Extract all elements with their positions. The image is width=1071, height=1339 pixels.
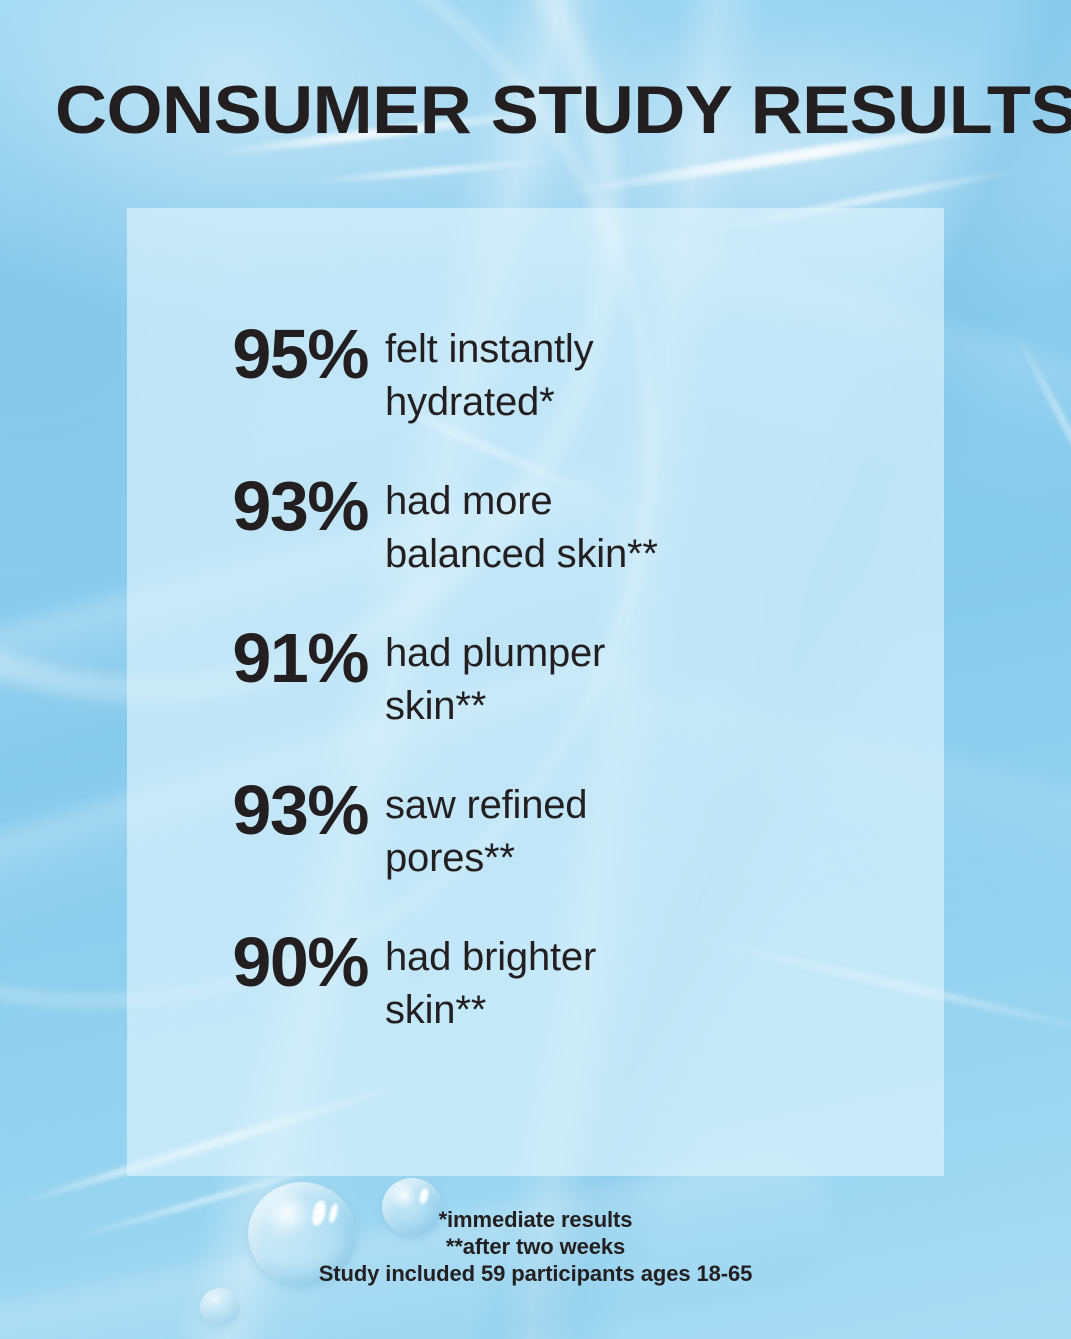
stat-label-line: had plumper xyxy=(385,627,755,680)
stat-label-line: pores** xyxy=(385,832,755,885)
footnote-study-participants: Study included 59 participants ages 18-6… xyxy=(0,1260,1071,1287)
stat-label: felt instantly hydrated* xyxy=(385,316,755,429)
stat-value: 93% xyxy=(127,772,385,848)
stat-label: saw refined pores** xyxy=(385,772,755,885)
stat-row: 95% felt instantly hydrated* xyxy=(127,316,944,429)
stat-label-line: skin** xyxy=(385,680,755,733)
stat-label-line: hydrated* xyxy=(385,376,755,429)
stat-label: had more balanced skin** xyxy=(385,468,755,581)
footnote-after-two-weeks: **after two weeks xyxy=(0,1233,1071,1260)
stat-value: 91% xyxy=(127,620,385,696)
stat-row: 90% had brighter skin** xyxy=(127,924,944,1037)
stat-label-line: had brighter xyxy=(385,931,755,984)
footnote-immediate-results: *immediate results xyxy=(0,1206,1071,1233)
stat-label-line: balanced skin** xyxy=(385,528,755,581)
stat-value: 95% xyxy=(127,316,385,392)
water-droplet-small xyxy=(200,1288,240,1326)
stats-list: 95% felt instantly hydrated* 93% had mor… xyxy=(127,208,944,1176)
stat-value: 93% xyxy=(127,468,385,544)
page-title: CONSUMER STUDY RESULTS xyxy=(55,76,1071,144)
stat-row: 93% had more balanced skin** xyxy=(127,468,944,581)
stat-label-line: felt instantly xyxy=(385,323,755,376)
stat-row: 93% saw refined pores** xyxy=(127,772,944,885)
footnotes: *immediate results **after two weeks Stu… xyxy=(0,1206,1071,1287)
stat-label-line: skin** xyxy=(385,984,755,1037)
consumer-study-poster: CONSUMER STUDY RESULTS 95% felt instantl… xyxy=(0,0,1071,1339)
stat-row: 91% had plumper skin** xyxy=(127,620,944,733)
stat-value: 90% xyxy=(127,924,385,1000)
stat-label-line: had more xyxy=(385,475,755,528)
stat-label: had plumper skin** xyxy=(385,620,755,733)
stat-label-line: saw refined xyxy=(385,779,755,832)
stat-label: had brighter skin** xyxy=(385,924,755,1037)
